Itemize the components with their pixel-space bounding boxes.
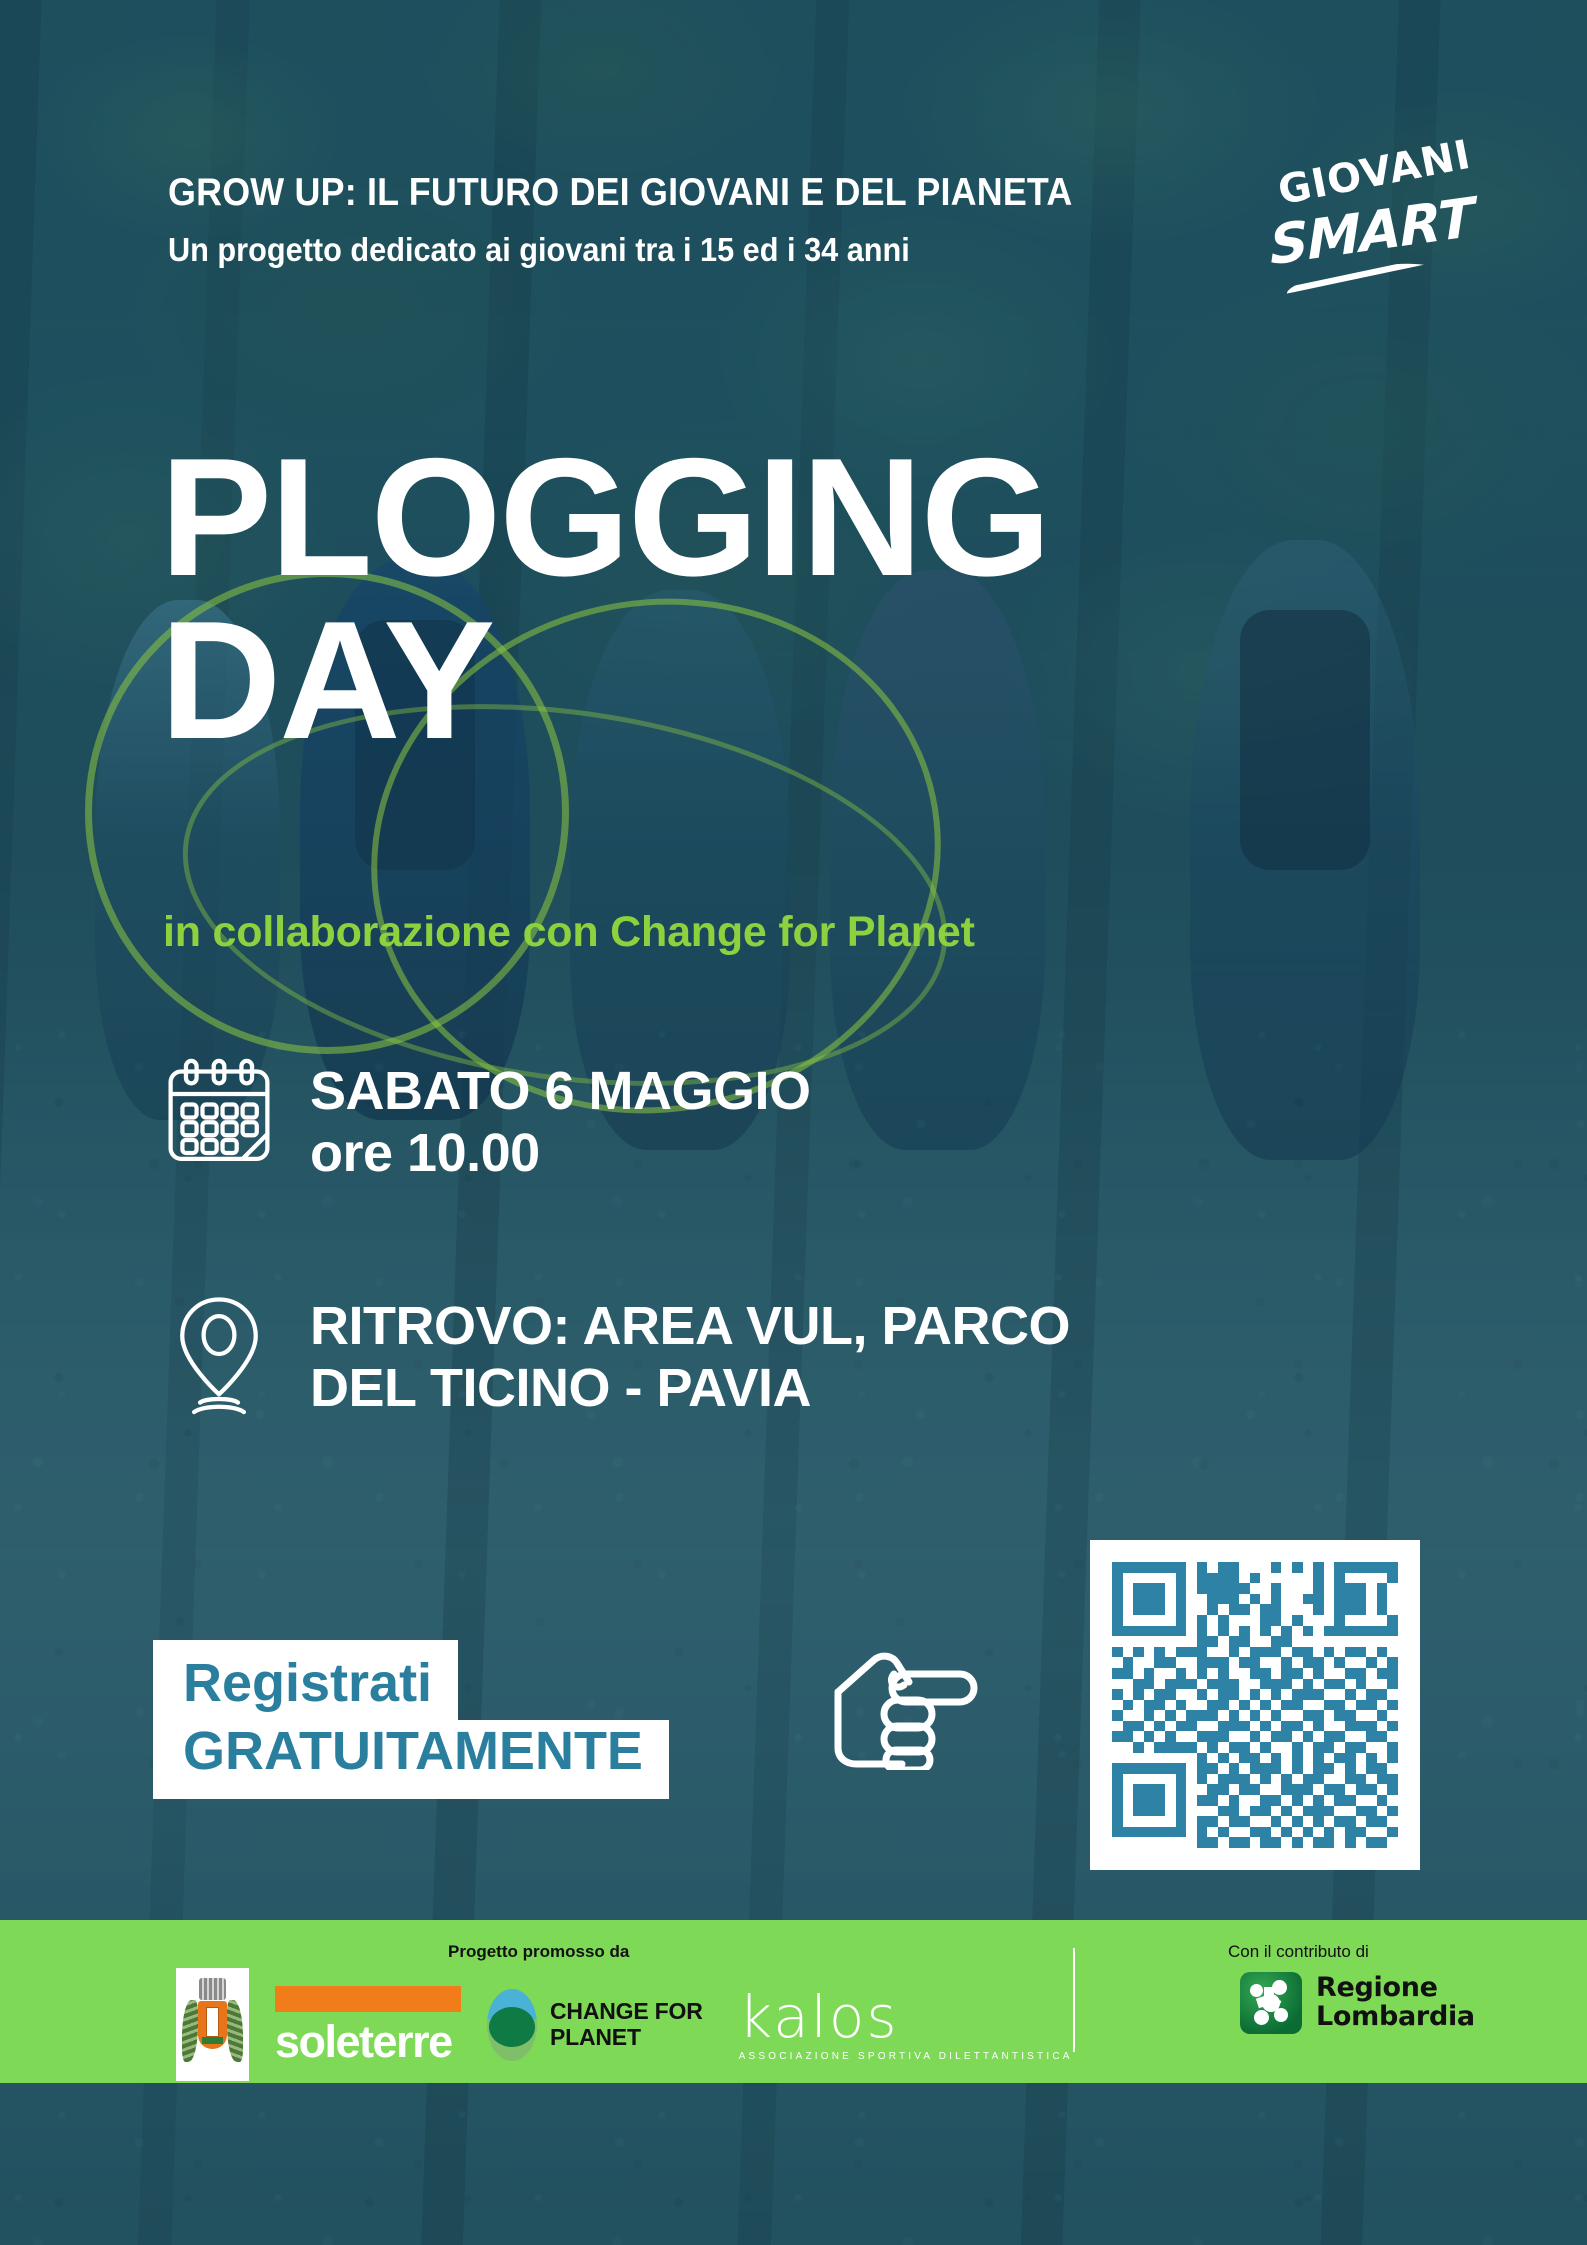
- header-title: GROW UP: IL FUTURO DEI GIOVANI E DEL PIA…: [168, 172, 1327, 214]
- giovani-smart-logo: GIOVANI SMART: [1269, 150, 1469, 285]
- kalos-logo-sublabel: ASSOCIAZIONE SPORTIVA DILETTANTISTICA: [739, 2051, 1073, 2062]
- event-date-line1: SABATO 6 MAGGIO: [310, 1061, 811, 1121]
- page-title: PLOGGING DAY: [160, 440, 1049, 757]
- event-location-row: RITROVO: AREA VUL, PARCO DEL TICINO - PA…: [160, 1290, 1070, 1423]
- crest-shield-icon: [198, 2001, 227, 2049]
- change-for-planet-mark-icon: [487, 1989, 537, 2061]
- rl-dot-southeast: [1274, 2008, 1288, 2022]
- event-date-text: SABATO 6 MAGGIO ore 10.00: [310, 1055, 811, 1184]
- kalos-logo-label: kalos: [739, 1988, 1073, 2046]
- bottom-photo-strip: [0, 2083, 1587, 2245]
- registration-cta-line2[interactable]: GRATUITAMENTE: [153, 1720, 669, 1800]
- collaboration-text: in collaborazione con Change for Planet: [163, 908, 975, 957]
- poster-root: GROW UP: IL FUTURO DEI GIOVANI E DEL PIA…: [0, 0, 1587, 2245]
- crest-leaf-left-icon: [182, 2000, 198, 2062]
- header: GROW UP: IL FUTURO DEI GIOVANI E DEL PIA…: [168, 172, 1428, 268]
- footer-promoter-logos: soleterre CHANGE FOR PLANET kalos ASSOCI…: [176, 1968, 1073, 2081]
- rl-dot-north: [1272, 1980, 1287, 1995]
- header-subtitle: Un progetto dedicato ai giovani tra i 15…: [168, 232, 1340, 268]
- change-for-planet-label-line2: PLANET: [550, 2025, 703, 2051]
- crest-tower-icon: [206, 2007, 219, 2037]
- comune-crest-logo: [176, 1968, 249, 2081]
- regione-lombardia-label-line1: Regione: [1316, 1974, 1475, 2003]
- qr-code[interactable]: [1090, 1540, 1420, 1870]
- page-title-line2: DAY: [160, 603, 1049, 758]
- change-for-planet-logo: CHANGE FOR PLANET: [487, 1989, 703, 2061]
- rl-dot-south: [1254, 2010, 1269, 2025]
- map-pin-icon: [160, 1290, 310, 1423]
- change-for-planet-label: CHANGE FOR PLANET: [550, 1999, 703, 2051]
- regione-lombardia-label-line2: Lombardia: [1316, 2003, 1475, 2032]
- regione-lombardia-mark-icon: [1240, 1972, 1302, 2034]
- kalos-logo: kalos ASSOCIAZIONE SPORTIVA DILETTANTIST…: [739, 1988, 1073, 2062]
- event-date-row: SABATO 6 MAGGIO ore 10.00: [160, 1055, 811, 1184]
- pointing-hand-icon: [830, 1630, 1000, 1770]
- calendar-icon: [160, 1055, 310, 1178]
- footer-promoted-caption: Progetto promosso da: [448, 1942, 629, 1962]
- qr-code-matrix[interactable]: [1112, 1562, 1398, 1848]
- event-date-line2: ore 10.00: [310, 1123, 811, 1185]
- footer-band: Progetto promosso da Con il contributo d…: [0, 1920, 1587, 2083]
- regione-lombardia-label: Regione Lombardia: [1316, 1974, 1475, 2031]
- event-location-label: RITROVO:: [310, 1296, 570, 1356]
- soleterre-bar-icon: [275, 1986, 461, 2012]
- registration-cta-line1[interactable]: Registrati: [153, 1640, 458, 1720]
- event-location-line2: DEL TICINO - PAVIA: [310, 1358, 1070, 1420]
- soleterre-logo-label: soleterre: [275, 2019, 461, 2064]
- crest-leaf-right-icon: [227, 2000, 243, 2062]
- page-title-line1: PLOGGING: [160, 423, 1049, 611]
- crest-base-icon: [202, 2037, 223, 2044]
- footer-contribution-caption: Con il contributo di: [1228, 1942, 1369, 1962]
- event-location-text: RITROVO: AREA VUL, PARCO DEL TICINO - PA…: [310, 1290, 1070, 1419]
- crest-crown-icon: [199, 1978, 226, 2000]
- footer-divider: [1073, 1948, 1075, 2052]
- regione-lombardia-logo: Regione Lombardia: [1240, 1972, 1475, 2034]
- event-location-line1: AREA VUL, PARCO: [570, 1296, 1070, 1356]
- soleterre-logo: soleterre: [275, 1986, 461, 2064]
- rl-dot-northwest: [1250, 1984, 1263, 1997]
- registration-cta[interactable]: Registrati GRATUITAMENTE: [153, 1640, 669, 1799]
- change-for-planet-label-line1: CHANGE FOR: [550, 1999, 703, 2025]
